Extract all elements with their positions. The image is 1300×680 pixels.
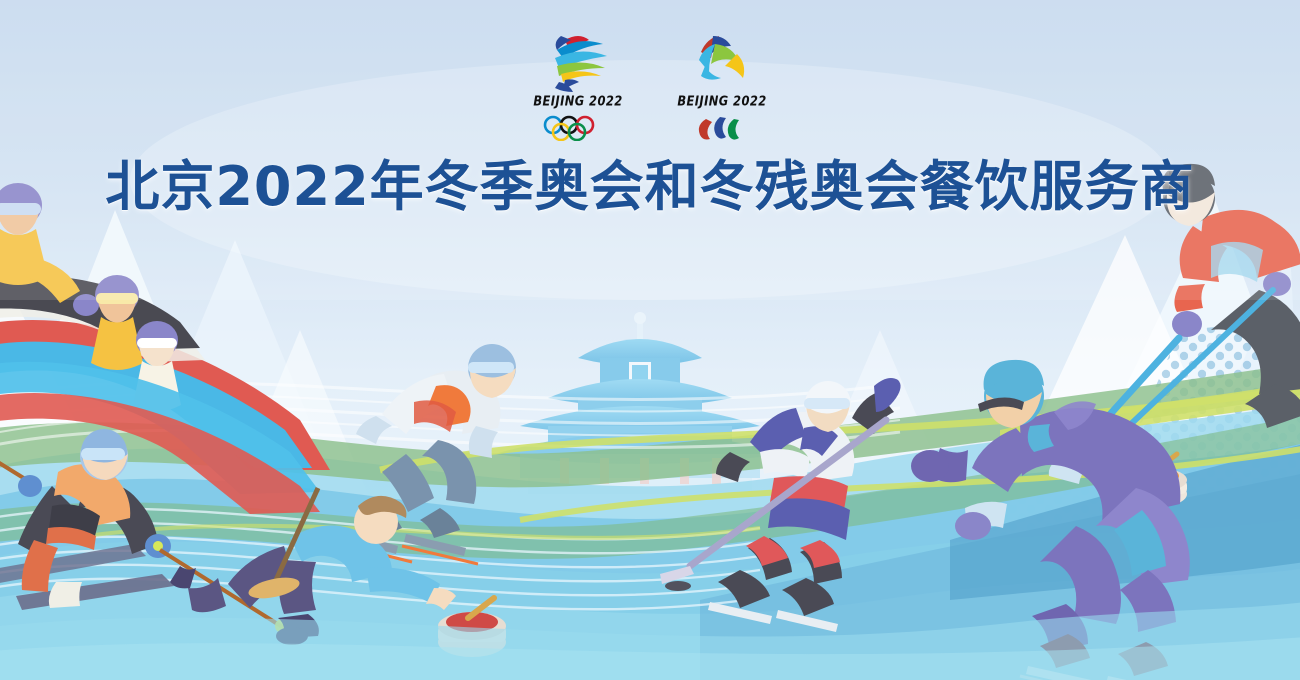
emblem-row: BEIJING 2022 (0, 30, 1300, 141)
paralympic-emblem-wordmark: BEIJING 2022 (677, 93, 766, 110)
olympic-rings-icon (540, 115, 616, 141)
olympic-emblem-mark-icon (535, 30, 621, 92)
agitos-icon (684, 115, 760, 141)
olympic-emblem-wordmark: BEIJING 2022 (533, 93, 622, 110)
olympic-emblem: BEIJING 2022 (528, 30, 628, 141)
page-title-container: 北京2022年冬季奥会和冬残奥会餐饮服务商 (0, 142, 1300, 221)
beijing-2022-banner: BEIJING 2022 (0, 0, 1300, 680)
page-title: 北京2022年冬季奥会和冬残奥会餐饮服务商 (105, 142, 1194, 221)
paralympic-emblem: BEIJING 2022 (672, 30, 772, 141)
paralympic-emblem-mark-icon (679, 30, 765, 92)
